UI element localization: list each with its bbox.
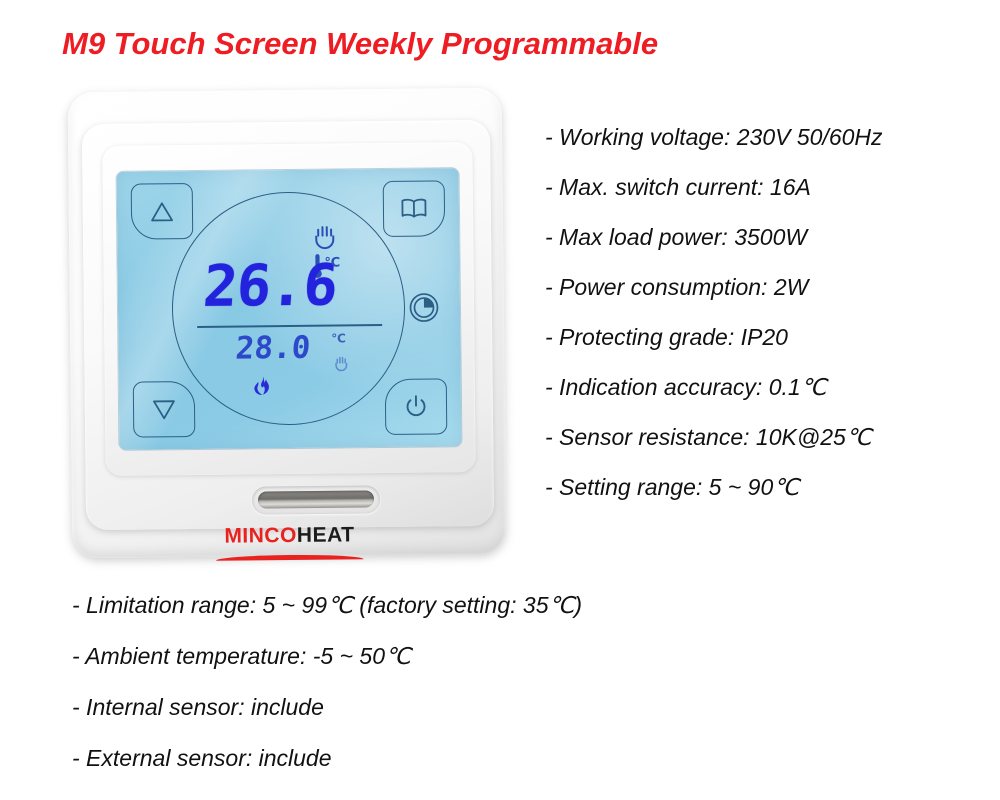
spec-item: - Limitation range: 5 ~ 99℃ (factory set… bbox=[72, 594, 972, 617]
triangle-down-icon bbox=[152, 399, 176, 420]
hand-icon bbox=[333, 355, 349, 371]
up-arrow-key[interactable] bbox=[131, 183, 194, 240]
spec-item: - Internal sensor: include bbox=[72, 696, 972, 719]
book-icon bbox=[400, 198, 428, 220]
spec-item: - Indication accuracy: 0.1℃ bbox=[545, 376, 990, 399]
brand-logo: MINCOHEAT bbox=[62, 522, 517, 563]
spec-item: - Ambient temperature: -5 ~ 50℃ bbox=[72, 645, 972, 668]
spec-item: - Setting range: 5 ~ 90℃ bbox=[545, 476, 990, 499]
manual-mode-hand-icon bbox=[312, 223, 338, 254]
flame-icon bbox=[252, 375, 274, 399]
heating-indicator-icon bbox=[252, 375, 274, 404]
spec-item: - Power consumption: 2W bbox=[545, 276, 990, 299]
specs-right-column: - Working voltage: 230V 50/60Hz - Max. s… bbox=[545, 126, 990, 526]
down-arrow-key[interactable] bbox=[133, 381, 196, 438]
current-temperature-readout: 26.6 bbox=[201, 257, 339, 315]
thermostat-device-image: 26.6 ℃ 28.0 ℃ bbox=[62, 86, 517, 568]
brand-swoosh bbox=[216, 550, 364, 561]
spec-item: - Working voltage: 230V 50/60Hz bbox=[545, 126, 990, 149]
release-slot bbox=[258, 490, 374, 508]
spec-item: - Protecting grade: IP20 bbox=[545, 326, 990, 349]
current-temperature-unit: ℃ bbox=[324, 255, 340, 270]
secondary-hand-icon bbox=[333, 355, 349, 376]
power-key[interactable] bbox=[385, 378, 448, 435]
spec-item: - External sensor: include bbox=[72, 747, 972, 770]
lcd-screen[interactable]: 26.6 ℃ 28.0 ℃ bbox=[117, 168, 462, 450]
spec-item: - Max load power: 3500W bbox=[545, 226, 990, 249]
triangle-up-icon bbox=[150, 201, 174, 222]
brand-name-secondary: HEAT bbox=[297, 523, 355, 547]
timer-key[interactable] bbox=[408, 291, 440, 328]
set-temperature-readout: 28.0 bbox=[234, 333, 311, 365]
product-infographic: M9 Touch Screen Weekly Programmable bbox=[0, 0, 1000, 800]
clock-icon bbox=[408, 291, 440, 323]
program-key[interactable] bbox=[383, 180, 446, 237]
set-temperature-unit: ℃ bbox=[331, 331, 346, 345]
hand-icon bbox=[312, 223, 338, 249]
release-slot-recess bbox=[252, 485, 380, 514]
spec-item: - Max. switch current: 16A bbox=[545, 176, 990, 199]
spec-item: - Sensor resistance: 10K@25℃ bbox=[545, 426, 990, 449]
power-icon bbox=[403, 394, 429, 420]
page-title: M9 Touch Screen Weekly Programmable bbox=[62, 26, 658, 62]
brand-name-primary: MINCO bbox=[224, 524, 297, 548]
specs-bottom-block: - Limitation range: 5 ~ 99℃ (factory set… bbox=[72, 594, 972, 798]
brand-text: MINCOHEAT bbox=[62, 522, 517, 551]
